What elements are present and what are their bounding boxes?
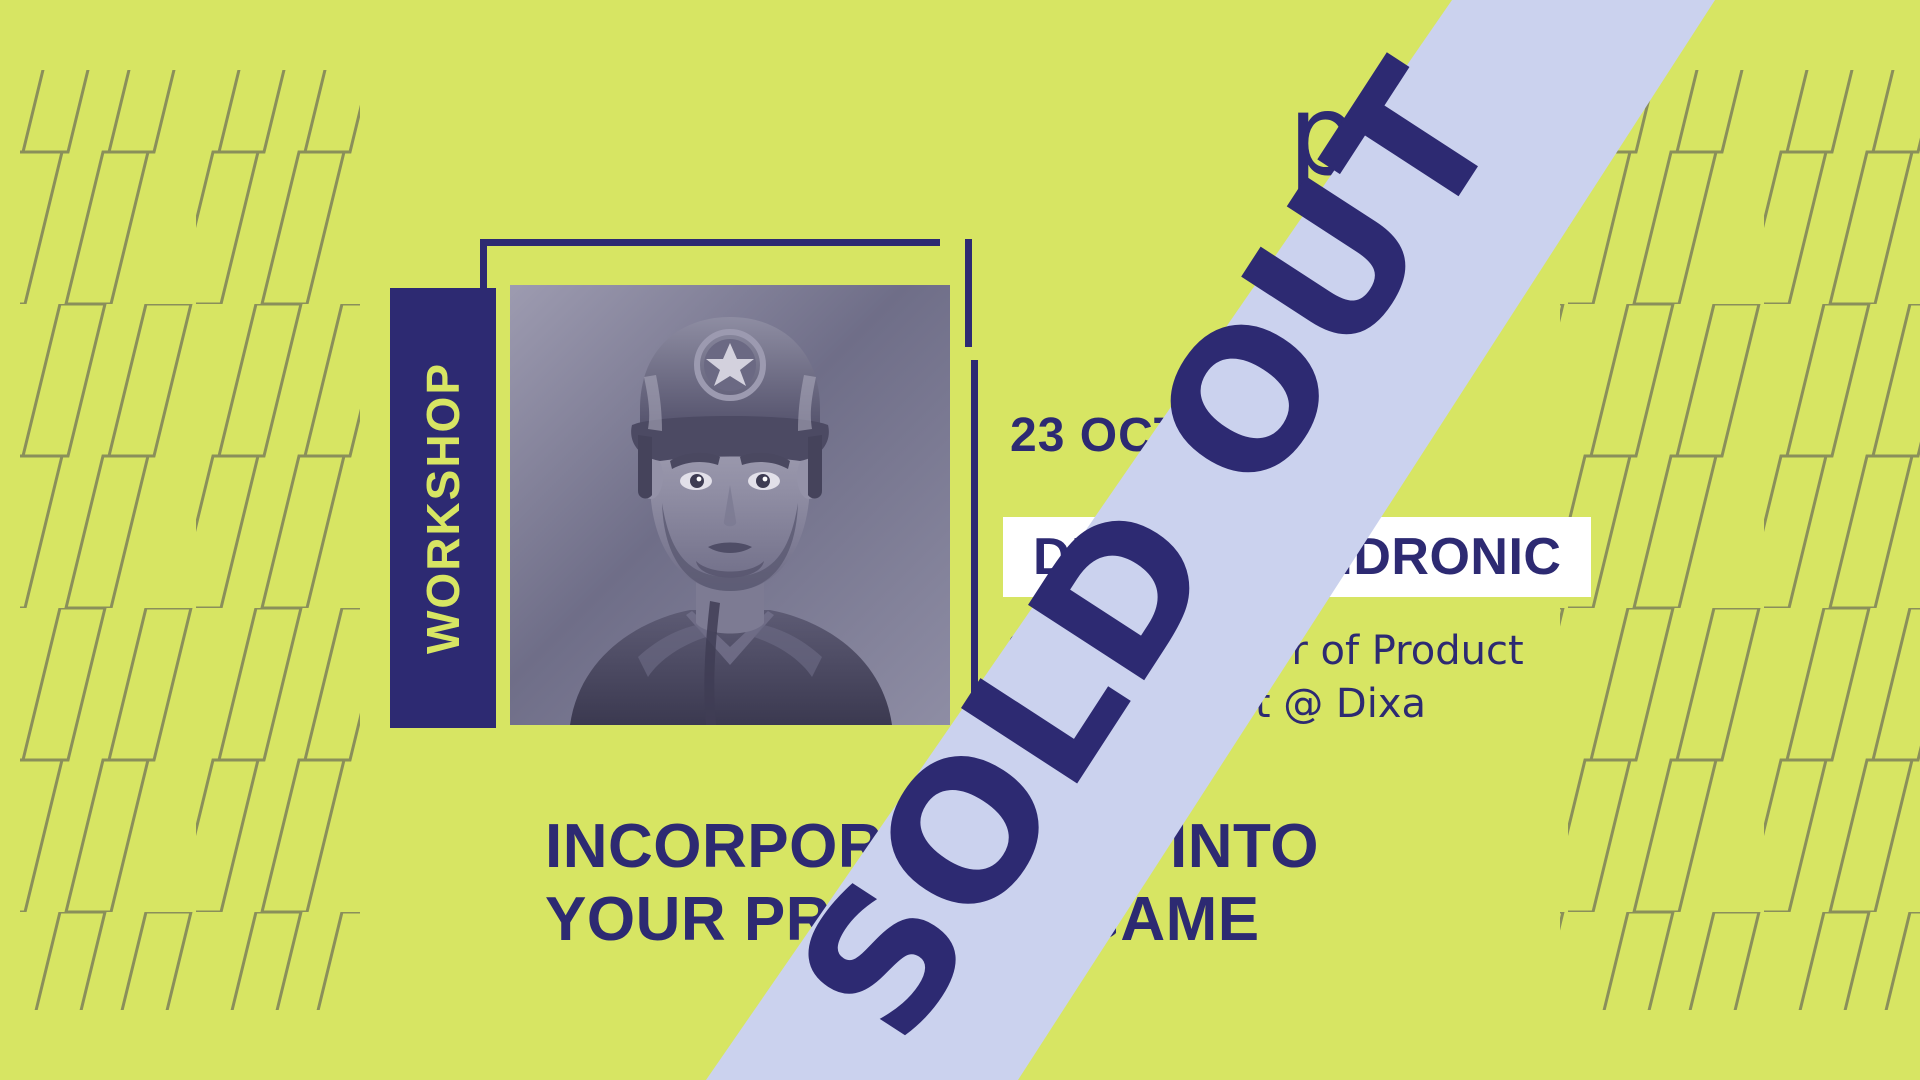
- speaker-role-line-1: Senior Director of Product: [1007, 625, 1567, 678]
- workshop-badge-label: WORKSHOP: [416, 362, 470, 654]
- speaker-role-line-2: Management @ Dixa: [1007, 678, 1567, 731]
- speaker-role: Senior Director of Product Management @ …: [1007, 625, 1567, 731]
- session-title: INCORPORATING AI INTO YOUR PRODUCT GAME: [545, 810, 1545, 956]
- brand-logo: prow 2025: [1288, 80, 1555, 242]
- event-poster: prow 2025 WORKSHOP: [0, 0, 1920, 1080]
- workshop-badge: WORKSHOP: [390, 288, 496, 728]
- speaker-name: DRAGOȘ ANDRONIC: [1033, 527, 1561, 587]
- speaker-photo-block: [510, 285, 950, 725]
- session-title-line-2: YOUR PRODUCT GAME: [545, 883, 1545, 956]
- speaker-name-banner: DRAGOȘ ANDRONIC: [1003, 517, 1591, 597]
- speaker-portrait-photo: [510, 285, 950, 725]
- photo-frame-right-tick: [965, 239, 972, 347]
- session-title-line-1: INCORPORATING AI INTO: [545, 810, 1545, 883]
- event-date: 23 OCTOBER: [1010, 408, 1326, 463]
- logo-wordmark: prow: [1288, 80, 1555, 192]
